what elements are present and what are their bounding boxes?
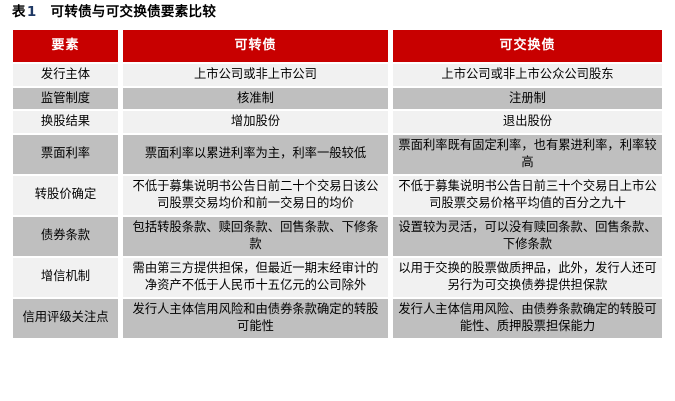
cell-exchangeable: 票面利率既有固定利率，也有累进利率，利率较高: [393, 135, 662, 174]
caption-text: 可转债与可交换债要素比较: [51, 4, 217, 20]
column-header-element: 要素: [13, 30, 118, 62]
cell-convertible: 需由第三方提供担保，但最近一期末经审计的净资产不低于人民币十五亿元的公司除外: [123, 258, 388, 297]
table-header: 要素 可转债 可交换债: [13, 30, 662, 62]
cell-exchangeable: 上市公司或非上市公众公司股东: [393, 64, 662, 86]
table-row: 信用评级关注点 发行人主体信用风险和由债券条款确定的转股可能性 发行人主体信用风…: [13, 299, 662, 338]
table-row: 发行主体 上市公司或非上市公司 上市公司或非上市公众公司股东: [13, 64, 662, 86]
table-row: 监管制度 核准制 注册制: [13, 88, 662, 110]
table-row: 增信机制 需由第三方提供担保，但最近一期末经审计的净资产不低于人民币十五亿元的公…: [13, 258, 662, 297]
row-label: 增信机制: [13, 258, 118, 297]
table-caption: 表1可转债与可交换债要素比较: [12, 2, 216, 22]
cell-exchangeable: 退出股份: [393, 111, 662, 133]
cell-convertible: 票面利率以累进利率为主，利率一般较低: [123, 135, 388, 174]
row-label: 转股价确定: [13, 176, 118, 215]
table-row: 转股价确定 不低于募集说明书公告日前二十个交易日该公司股票交易均价和前一交易日的…: [13, 176, 662, 215]
caption-prefix: 表: [12, 4, 26, 20]
cell-convertible: 不低于募集说明书公告日前二十个交易日该公司股票交易均价和前一交易日的均价: [123, 176, 388, 215]
caption-number: 1: [26, 4, 51, 20]
table-body: 发行主体 上市公司或非上市公司 上市公司或非上市公众公司股东 监管制度 核准制 …: [13, 64, 662, 338]
column-header-convertible-bond: 可转债: [123, 30, 388, 62]
table-figure: 表1可转债与可交换债要素比较 要素 可转债 可交换债 发行主体 上市公司或非上市…: [0, 0, 675, 401]
row-label: 监管制度: [13, 88, 118, 110]
table-row: 换股结果 增加股份 退出股份: [13, 111, 662, 133]
cell-convertible: 包括转股条款、赎回条款、回售条款、下修条款: [123, 217, 388, 256]
row-label: 票面利率: [13, 135, 118, 174]
row-label: 换股结果: [13, 111, 118, 133]
cell-exchangeable: 发行人主体信用风险、由债券条款确定的转股可能性、质押股票担保能力: [393, 299, 662, 338]
table-header-row: 要素 可转债 可交换债: [13, 30, 662, 62]
column-header-exchangeable-bond: 可交换债: [393, 30, 662, 62]
row-label: 发行主体: [13, 64, 118, 86]
cell-convertible: 增加股份: [123, 111, 388, 133]
comparison-table: 要素 可转债 可交换债 发行主体 上市公司或非上市公司 上市公司或非上市公众公司…: [8, 28, 667, 340]
cell-exchangeable: 以用于交换的股票做质押品，此外，发行人还可另行为可交换债券提供担保款: [393, 258, 662, 297]
cell-exchangeable: 设置较为灵活，可以没有赎回条款、回售条款、下修条款: [393, 217, 662, 256]
table-row: 债券条款 包括转股条款、赎回条款、回售条款、下修条款 设置较为灵活，可以没有赎回…: [13, 217, 662, 256]
cell-convertible: 核准制: [123, 88, 388, 110]
cell-exchangeable: 不低于募集说明书公告日前三十个交易日上市公司股票交易价格平均值的百分之九十: [393, 176, 662, 215]
row-label: 信用评级关注点: [13, 299, 118, 338]
row-label: 债券条款: [13, 217, 118, 256]
cell-exchangeable: 注册制: [393, 88, 662, 110]
cell-convertible: 发行人主体信用风险和由债券条款确定的转股可能性: [123, 299, 388, 338]
table-row: 票面利率 票面利率以累进利率为主，利率一般较低 票面利率既有固定利率，也有累进利…: [13, 135, 662, 174]
cell-convertible: 上市公司或非上市公司: [123, 64, 388, 86]
